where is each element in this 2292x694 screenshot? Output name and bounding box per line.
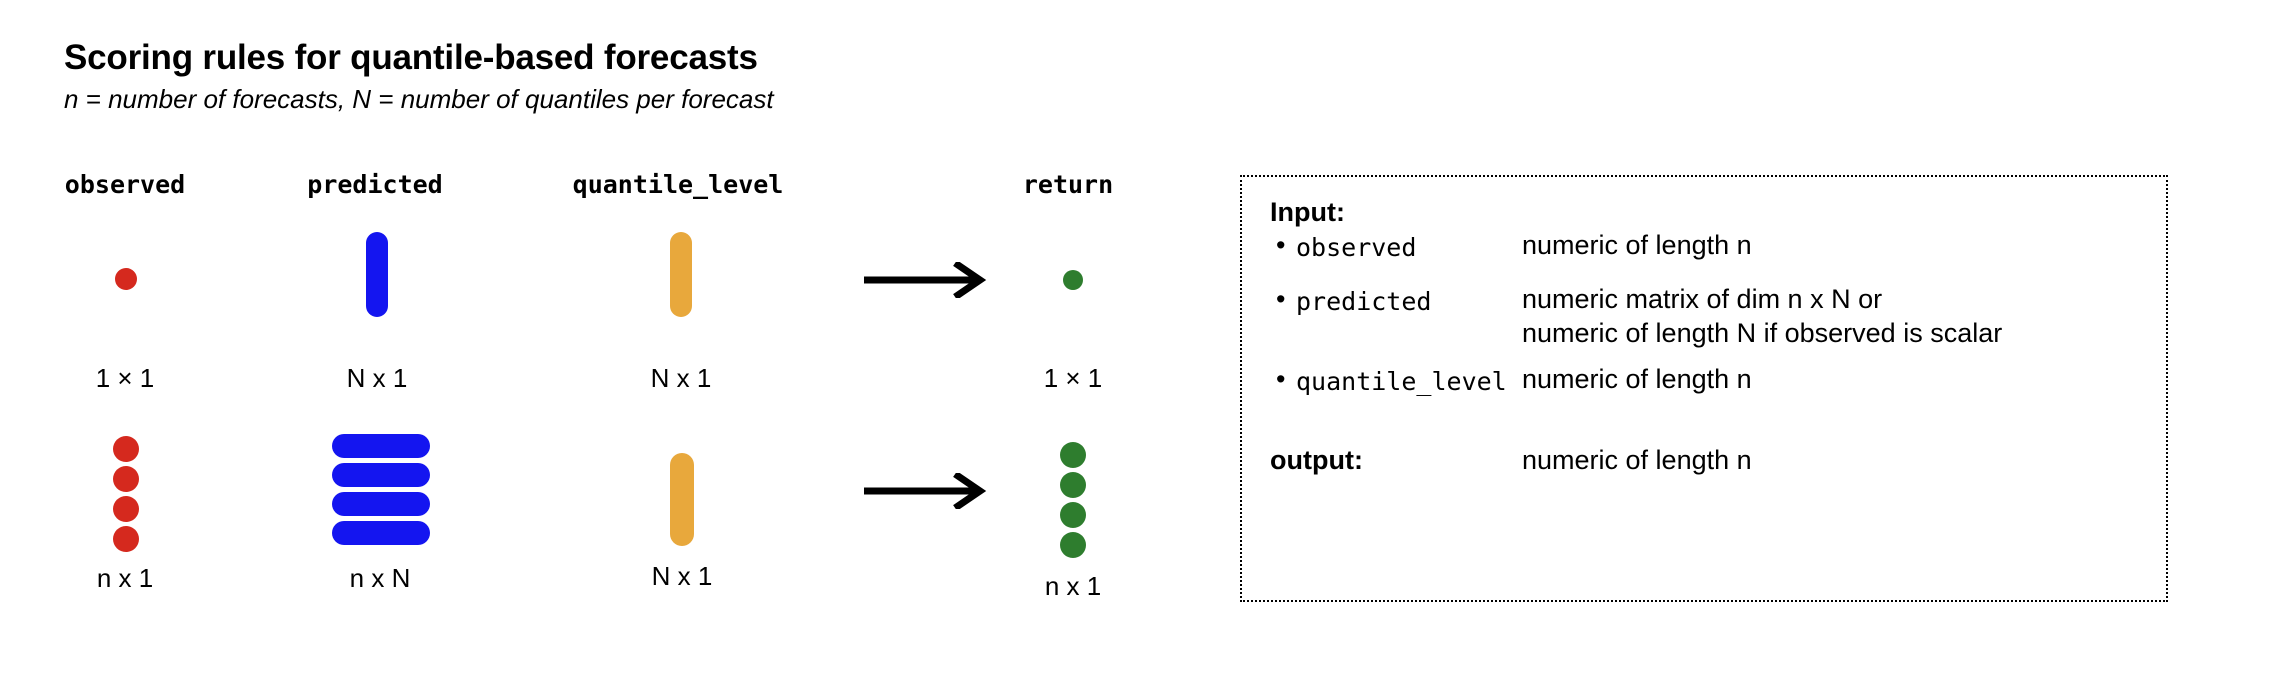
- spec-desc-quantile-level: numeric of length n: [1522, 364, 1752, 395]
- return-dot: [1060, 532, 1086, 558]
- column-header-predicted: predicted: [307, 170, 442, 199]
- arrow-right-icon: [862, 473, 988, 509]
- return-dot: [1063, 270, 1083, 290]
- column-header-return: return: [1023, 170, 1113, 199]
- dim-label-quantile-level-scalar: N x 1: [651, 363, 712, 394]
- dim-label-return-vector: n x 1: [1045, 571, 1101, 602]
- bullet-icon: •: [1276, 364, 1285, 395]
- input-output-spec-box: Input: • observed numeric of length n • …: [1240, 175, 2168, 602]
- diagram-panel: observed predicted quantile_level return…: [0, 0, 1200, 694]
- dim-label-quantile-level-vector: N x 1: [652, 561, 713, 592]
- bullet-icon: •: [1276, 230, 1285, 261]
- arrow-right-icon: [862, 262, 988, 298]
- spec-desc-predicted-line2: numeric of length N if observed is scala…: [1522, 318, 2002, 349]
- predicted-bar: [332, 434, 430, 458]
- input-heading: Input:: [1270, 197, 1345, 228]
- quantile-level-bar: [670, 453, 694, 546]
- dim-label-return-scalar: 1 × 1: [1044, 363, 1103, 394]
- dim-label-predicted-scalar: N x 1: [347, 363, 408, 394]
- predicted-bar: [332, 492, 430, 516]
- observed-dot: [113, 526, 139, 552]
- observed-dot: [113, 436, 139, 462]
- spec-desc-observed: numeric of length n: [1522, 230, 1752, 261]
- return-dot: [1060, 442, 1086, 468]
- spec-term-observed: observed: [1296, 233, 1416, 262]
- output-heading: output:: [1270, 445, 1363, 476]
- predicted-bar: [332, 521, 430, 545]
- observed-dot: [113, 496, 139, 522]
- spec-desc-predicted-line1: numeric matrix of dim n x N or: [1522, 284, 1882, 315]
- spec-desc-output: numeric of length n: [1522, 445, 1752, 476]
- dim-label-observed-vector: n x 1: [97, 563, 153, 594]
- spec-term-predicted: predicted: [1296, 287, 1431, 316]
- predicted-bar: [366, 232, 388, 317]
- spec-term-quantile-level: quantile_level: [1296, 367, 1507, 396]
- column-header-quantile-level: quantile_level: [573, 170, 784, 199]
- quantile-level-bar: [670, 232, 692, 317]
- predicted-bar: [332, 463, 430, 487]
- dim-label-predicted-vector: n x N: [350, 563, 411, 594]
- return-dot: [1060, 502, 1086, 528]
- dim-label-observed-scalar: 1 × 1: [96, 363, 155, 394]
- return-dot: [1060, 472, 1086, 498]
- observed-dot: [113, 466, 139, 492]
- observed-dot: [115, 268, 137, 290]
- column-header-observed: observed: [65, 170, 185, 199]
- bullet-icon: •: [1276, 284, 1285, 315]
